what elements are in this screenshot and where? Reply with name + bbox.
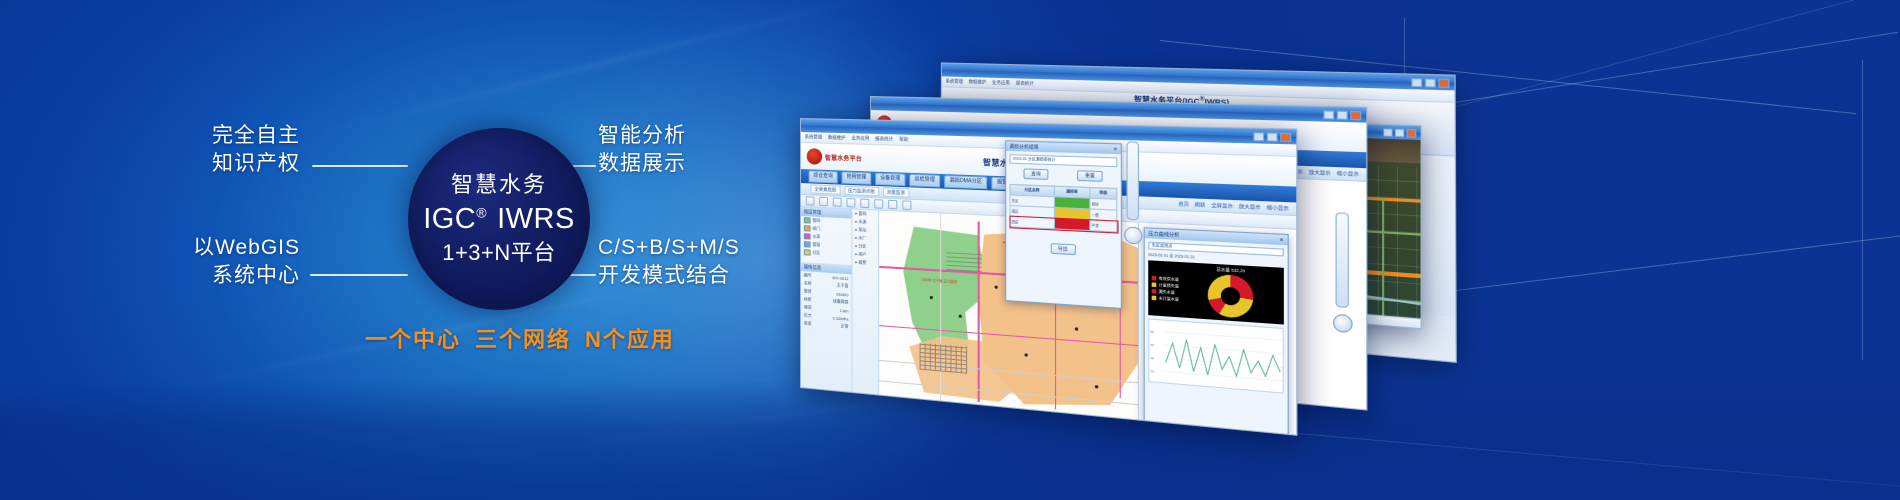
logo-text-front: 智慧水务平台 (825, 152, 862, 162)
analysis-strip-front[interactable]: 压力曲线分析 ✕ 东区监测点 2023-01-01 至 2023-01-31 有… (1138, 223, 1296, 436)
map-label-cluster-2 (946, 251, 982, 272)
tool-zoom-in-icon[interactable] (833, 197, 842, 206)
line-chart-front[interactable]: 80604020 (1148, 318, 1284, 393)
leak-dialog-input[interactable]: 2023-01 分区漏损率统计 (1009, 154, 1117, 167)
quick-link-front-0[interactable]: 首页 (1178, 201, 1189, 208)
maximize-button-front[interactable] (1267, 132, 1278, 141)
cell-level-2: 严重 (1090, 220, 1117, 232)
leak-dialog-front[interactable]: 漏损分析结果 ✕ 2023-01 分区漏损率统计 查询 重置 分区名称 漏损率 (1005, 140, 1122, 309)
subnav-tab-front-0[interactable]: 全要素底图 (811, 184, 841, 194)
maximize-button-back[interactable] (1425, 78, 1436, 87)
feature-top-right: 智能分析 数据展示 (598, 122, 686, 177)
analysis-panel-body: 东区监测点 2023-01-01 至 2023-01-31 有效供水量 计量损失… (1145, 238, 1288, 397)
svg-text:60: 60 (1151, 343, 1155, 348)
feature-bottom-left-line1: 以WebGIS (160, 234, 300, 262)
quick-link-middle-4[interactable]: 缩小显示 (1337, 170, 1359, 178)
donut-chart-front[interactable] (1208, 274, 1254, 319)
tool-pointer-icon[interactable] (806, 196, 815, 205)
menu-item-front-2[interactable]: 业务应用 (851, 135, 869, 142)
center-badge: 智慧水务 IGC®IWRS 1+3+N平台 (408, 128, 590, 310)
tagline-part-1: 一个中心 (365, 327, 461, 352)
map-node-3[interactable] (995, 286, 998, 289)
maximize-button-satellite[interactable] (1395, 128, 1405, 137)
menu-item-back-1[interactable]: 数据维护 (969, 79, 987, 86)
tool-measure-icon[interactable] (860, 199, 869, 209)
minimize-button-back[interactable] (1411, 77, 1422, 86)
tool-zoom-out-icon[interactable] (846, 198, 855, 208)
nav-tab-front-2[interactable]: 设备管理 (875, 173, 905, 186)
feature-bottom-right-line1: C/S+B/S+M/S (598, 234, 740, 262)
map-label-cluster (920, 343, 968, 374)
registered-icon: ® (476, 204, 487, 220)
menu-item-back-2[interactable]: 业务应用 (992, 80, 1010, 87)
tagline-part-3: N个应用 (585, 327, 675, 352)
nav-tab-front-0[interactable]: 综合查询 (809, 171, 838, 184)
minimize-button-front[interactable] (1253, 132, 1264, 141)
maximize-button-middle[interactable] (1337, 110, 1348, 119)
menu-item-front-1[interactable]: 数据维护 (828, 135, 846, 142)
leak-dialog-cancel-button[interactable]: 重置 (1077, 170, 1103, 182)
badge-brand: IGC (423, 203, 476, 235)
subnav-tab-front-1[interactable]: 压力监测点图 (844, 186, 879, 197)
quick-link-middle-3[interactable]: 放大显示 (1309, 169, 1331, 177)
feature-bottom-right: C/S+B/S+M/S 开发模式结合 (598, 234, 740, 289)
analysis-panel-close-icon[interactable]: ✕ (1279, 235, 1284, 245)
subnav-tab-front-2[interactable]: 流量监测 (883, 187, 909, 198)
analysis-panel-front[interactable]: 压力曲线分析 ✕ 东区监测点 2023-01-01 至 2023-01-31 有… (1144, 227, 1289, 436)
line-chart-svg-front: 80604020 (1149, 320, 1283, 393)
connector-bottom-left (310, 274, 408, 276)
map-node-6[interactable] (1095, 385, 1098, 389)
svg-text:20: 20 (1151, 369, 1155, 374)
feature-bottom-left-line2: 系统中心 (160, 262, 300, 290)
tree-panel-front[interactable]: ▸ 管网 ▸ 水源 ▸ 泵站 ▸ 水厂 ▸ 分区 ▸ 用户 ▸ 报警 (852, 209, 879, 400)
svg-text:80: 80 (1151, 329, 1155, 334)
leak-dialog-table[interactable]: 分区名称 漏损率 等级 东区 8.2% 良好 南区 12 (1009, 184, 1117, 233)
menu-item-front-0[interactable]: 系统管理 (805, 134, 822, 140)
badge-product: IWRS (497, 203, 575, 235)
leak-dialog-close-icon[interactable]: ✕ (1113, 144, 1117, 154)
feature-top-left-line2: 知识产权 (180, 150, 300, 178)
zoom-slider-middle[interactable] (1335, 212, 1348, 308)
feature-bottom-right-line2: 开发模式结合 (598, 262, 740, 290)
feature-top-right-line2: 数据展示 (598, 150, 686, 178)
layer-item-4[interactable]: 分区 (801, 248, 851, 259)
map-node-1[interactable] (930, 296, 933, 299)
badge-line-2: IGC®IWRS (423, 205, 575, 234)
quick-link-front-2[interactable]: 全屏显示 (1211, 202, 1232, 210)
app-window-front[interactable]: 系统管理 数据维护 业务应用 报表统计 帮助 智慧水务平台 智慧水务平台(IGC… (800, 118, 1295, 433)
minimize-button-satellite[interactable] (1383, 128, 1393, 137)
nav-tab-front-3[interactable]: 巡检管理 (909, 174, 940, 187)
menu-item-back-3[interactable]: 报表统计 (1016, 80, 1034, 87)
donut-chart-container-front: 有效供水量 计量损失量 漏失水量 未计量水量 总水量 532,20 (1148, 260, 1284, 324)
menu-item-front-4[interactable]: 帮助 (899, 137, 908, 143)
quick-links-front[interactable]: 首页 刷新 全屏显示 放大显示 缩小显示 (1178, 201, 1288, 212)
badge-line-3: 1+3+N平台 (442, 242, 556, 264)
company-logo-icon-front (807, 148, 822, 165)
quick-link-front-3[interactable]: 放大显示 (1239, 203, 1261, 211)
cell-name-2: 西区 (1010, 216, 1054, 229)
map-node-4[interactable] (1025, 353, 1028, 356)
feature-top-left-line1: 完全自主 (180, 122, 300, 150)
layer-panel-front[interactable]: 图层管理 管网 阀门 水表 管段 分区 属性信息 编号WX-0012 名称主干管… (801, 207, 852, 398)
close-button-satellite[interactable] (1407, 128, 1417, 137)
perspective-line-vertical-2 (1862, 60, 1863, 360)
leak-dialog-ok-button[interactable]: 查询 (1023, 168, 1048, 180)
menu-item-front-3[interactable]: 报表统计 (875, 136, 893, 143)
leak-dialog-title: 漏损分析结果 (1009, 141, 1038, 151)
connector-top-left (312, 165, 408, 167)
tagline: 一个中心三个网络N个应用 (365, 322, 675, 354)
pipe-main-v (978, 221, 980, 402)
nav-tab-front-4[interactable]: 漏损DMA分区 (944, 175, 987, 189)
leak-dialog-body: 2023-01 分区漏损率统计 查询 重置 分区名称 漏损率 等级 (1006, 151, 1121, 262)
zoom-slider-front[interactable] (1126, 141, 1139, 220)
feature-top-right-line1: 智能分析 (598, 122, 686, 150)
street-3 (940, 213, 941, 406)
quick-link-front-4[interactable]: 缩小显示 (1267, 204, 1289, 212)
close-button-back[interactable] (1438, 78, 1449, 87)
tagline-part-2: 三个网络 (475, 327, 571, 352)
nav-tab-front-1[interactable]: 管网管理 (842, 172, 872, 185)
feature-top-left: 完全自主 知识产权 (180, 122, 300, 177)
tool-identify-icon[interactable] (874, 199, 883, 209)
quick-link-front-1[interactable]: 刷新 (1195, 201, 1206, 208)
tool-print-icon[interactable] (888, 200, 897, 210)
pan-control-front[interactable] (1124, 226, 1142, 244)
map-node-5[interactable] (1075, 327, 1078, 330)
donut-legend-front-3: 未计量水量 (1152, 295, 1179, 302)
tree-node-6[interactable]: ▸ 报警 (852, 258, 878, 268)
menu-item-back-0[interactable]: 系统管理 (946, 78, 963, 84)
feature-bottom-left: 以WebGIS 系统中心 (160, 234, 300, 289)
analysis-panel-title: 压力曲线分析 (1148, 228, 1179, 239)
svg-text:40: 40 (1151, 356, 1155, 361)
close-button-middle[interactable] (1350, 110, 1361, 119)
hero-banner: 系统管理 数据维护 业务应用 报表统计 ☑ 管网图层 ☑ 监测点 ☑ 阀门 ☐ … (0, 0, 1900, 500)
leak-dialog-export-button[interactable]: 导出 (1050, 243, 1075, 255)
map-node-2[interactable] (959, 315, 962, 318)
close-button-front[interactable] (1280, 132, 1291, 141)
tool-layers-icon[interactable] (902, 200, 911, 210)
donut-legend-front: 有效供水量 计量损失量 漏失水量 未计量水量 (1152, 275, 1179, 302)
minimize-button-middle[interactable] (1323, 110, 1334, 119)
badge-line-1: 智慧水务 (451, 174, 547, 196)
pan-control-middle[interactable] (1333, 314, 1353, 334)
tool-pan-icon[interactable] (819, 197, 828, 206)
